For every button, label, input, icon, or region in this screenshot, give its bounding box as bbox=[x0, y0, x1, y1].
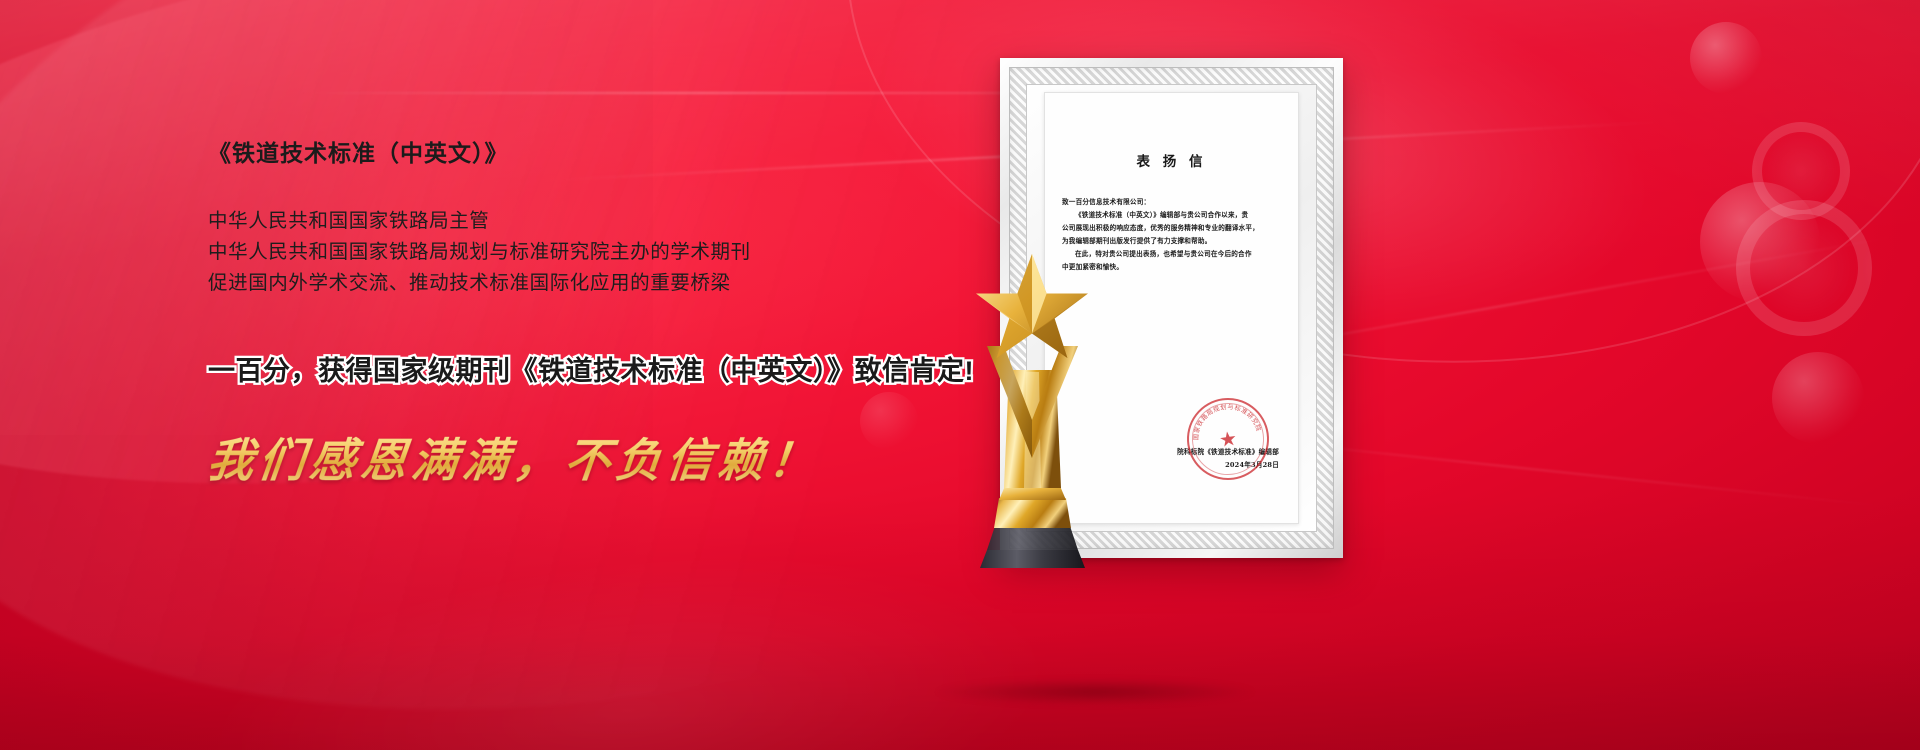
banner-stage: 《铁道技术标准（中英文）》 中华人民共和国国家铁路局主管 中华人民共和国国家铁路… bbox=[0, 0, 1920, 750]
svg-text:国家铁路局规划与标准研究院: 国家铁路局规划与标准研究院 bbox=[1188, 398, 1263, 441]
journal-fact-2: 促进国内外学术交流、推动技术标准国际化应用的重要桥梁 bbox=[208, 268, 1028, 299]
certificate-signature: 院科标院《铁道技术标准》编辑部 2024年3月28日 bbox=[1177, 446, 1279, 472]
calligraphy-slogan: 我们感恩满满，不负信赖！ bbox=[205, 424, 824, 490]
floor-shadow bbox=[880, 674, 1310, 710]
certificate-signature-date: 2024年3月28日 bbox=[1177, 459, 1279, 472]
journal-fact-0: 中华人民共和国国家铁路局主管 bbox=[208, 206, 1028, 237]
gold-star-trophy bbox=[925, 250, 1140, 570]
journal-fact-1: 中华人民共和国国家铁路局规划与标准研究院主办的学术期刊 bbox=[208, 237, 1028, 268]
certificate-line-2: 公司展现出积极的响应态度，优秀的服务精神和专业的翻译水平， bbox=[1062, 222, 1281, 235]
certificate-line-3: 为我编辑部期刊出版发行提供了有力支撑和帮助。 bbox=[1062, 235, 1281, 248]
copy-block: 《铁道技术标准（中英文）》 中华人民共和国国家铁路局主管 中华人民共和国国家铁路… bbox=[208, 140, 1028, 490]
certificate-line-1: 《铁道技术标准（中英文）》编辑部与贵公司合作以来，贵 bbox=[1062, 209, 1281, 222]
journal-title: 《铁道技术标准（中英文）》 bbox=[208, 140, 1028, 168]
certificate-title: 表 扬 信 bbox=[1062, 150, 1281, 170]
headline: 一百分，获得国家级期刊《铁道技术标准（中英文）》致信肯定! bbox=[208, 355, 1028, 389]
certificate-line-0: 致一百分信息技术有限公司： bbox=[1062, 196, 1281, 209]
certificate-signature-org: 院科标院《铁道技术标准》编辑部 bbox=[1177, 446, 1279, 459]
